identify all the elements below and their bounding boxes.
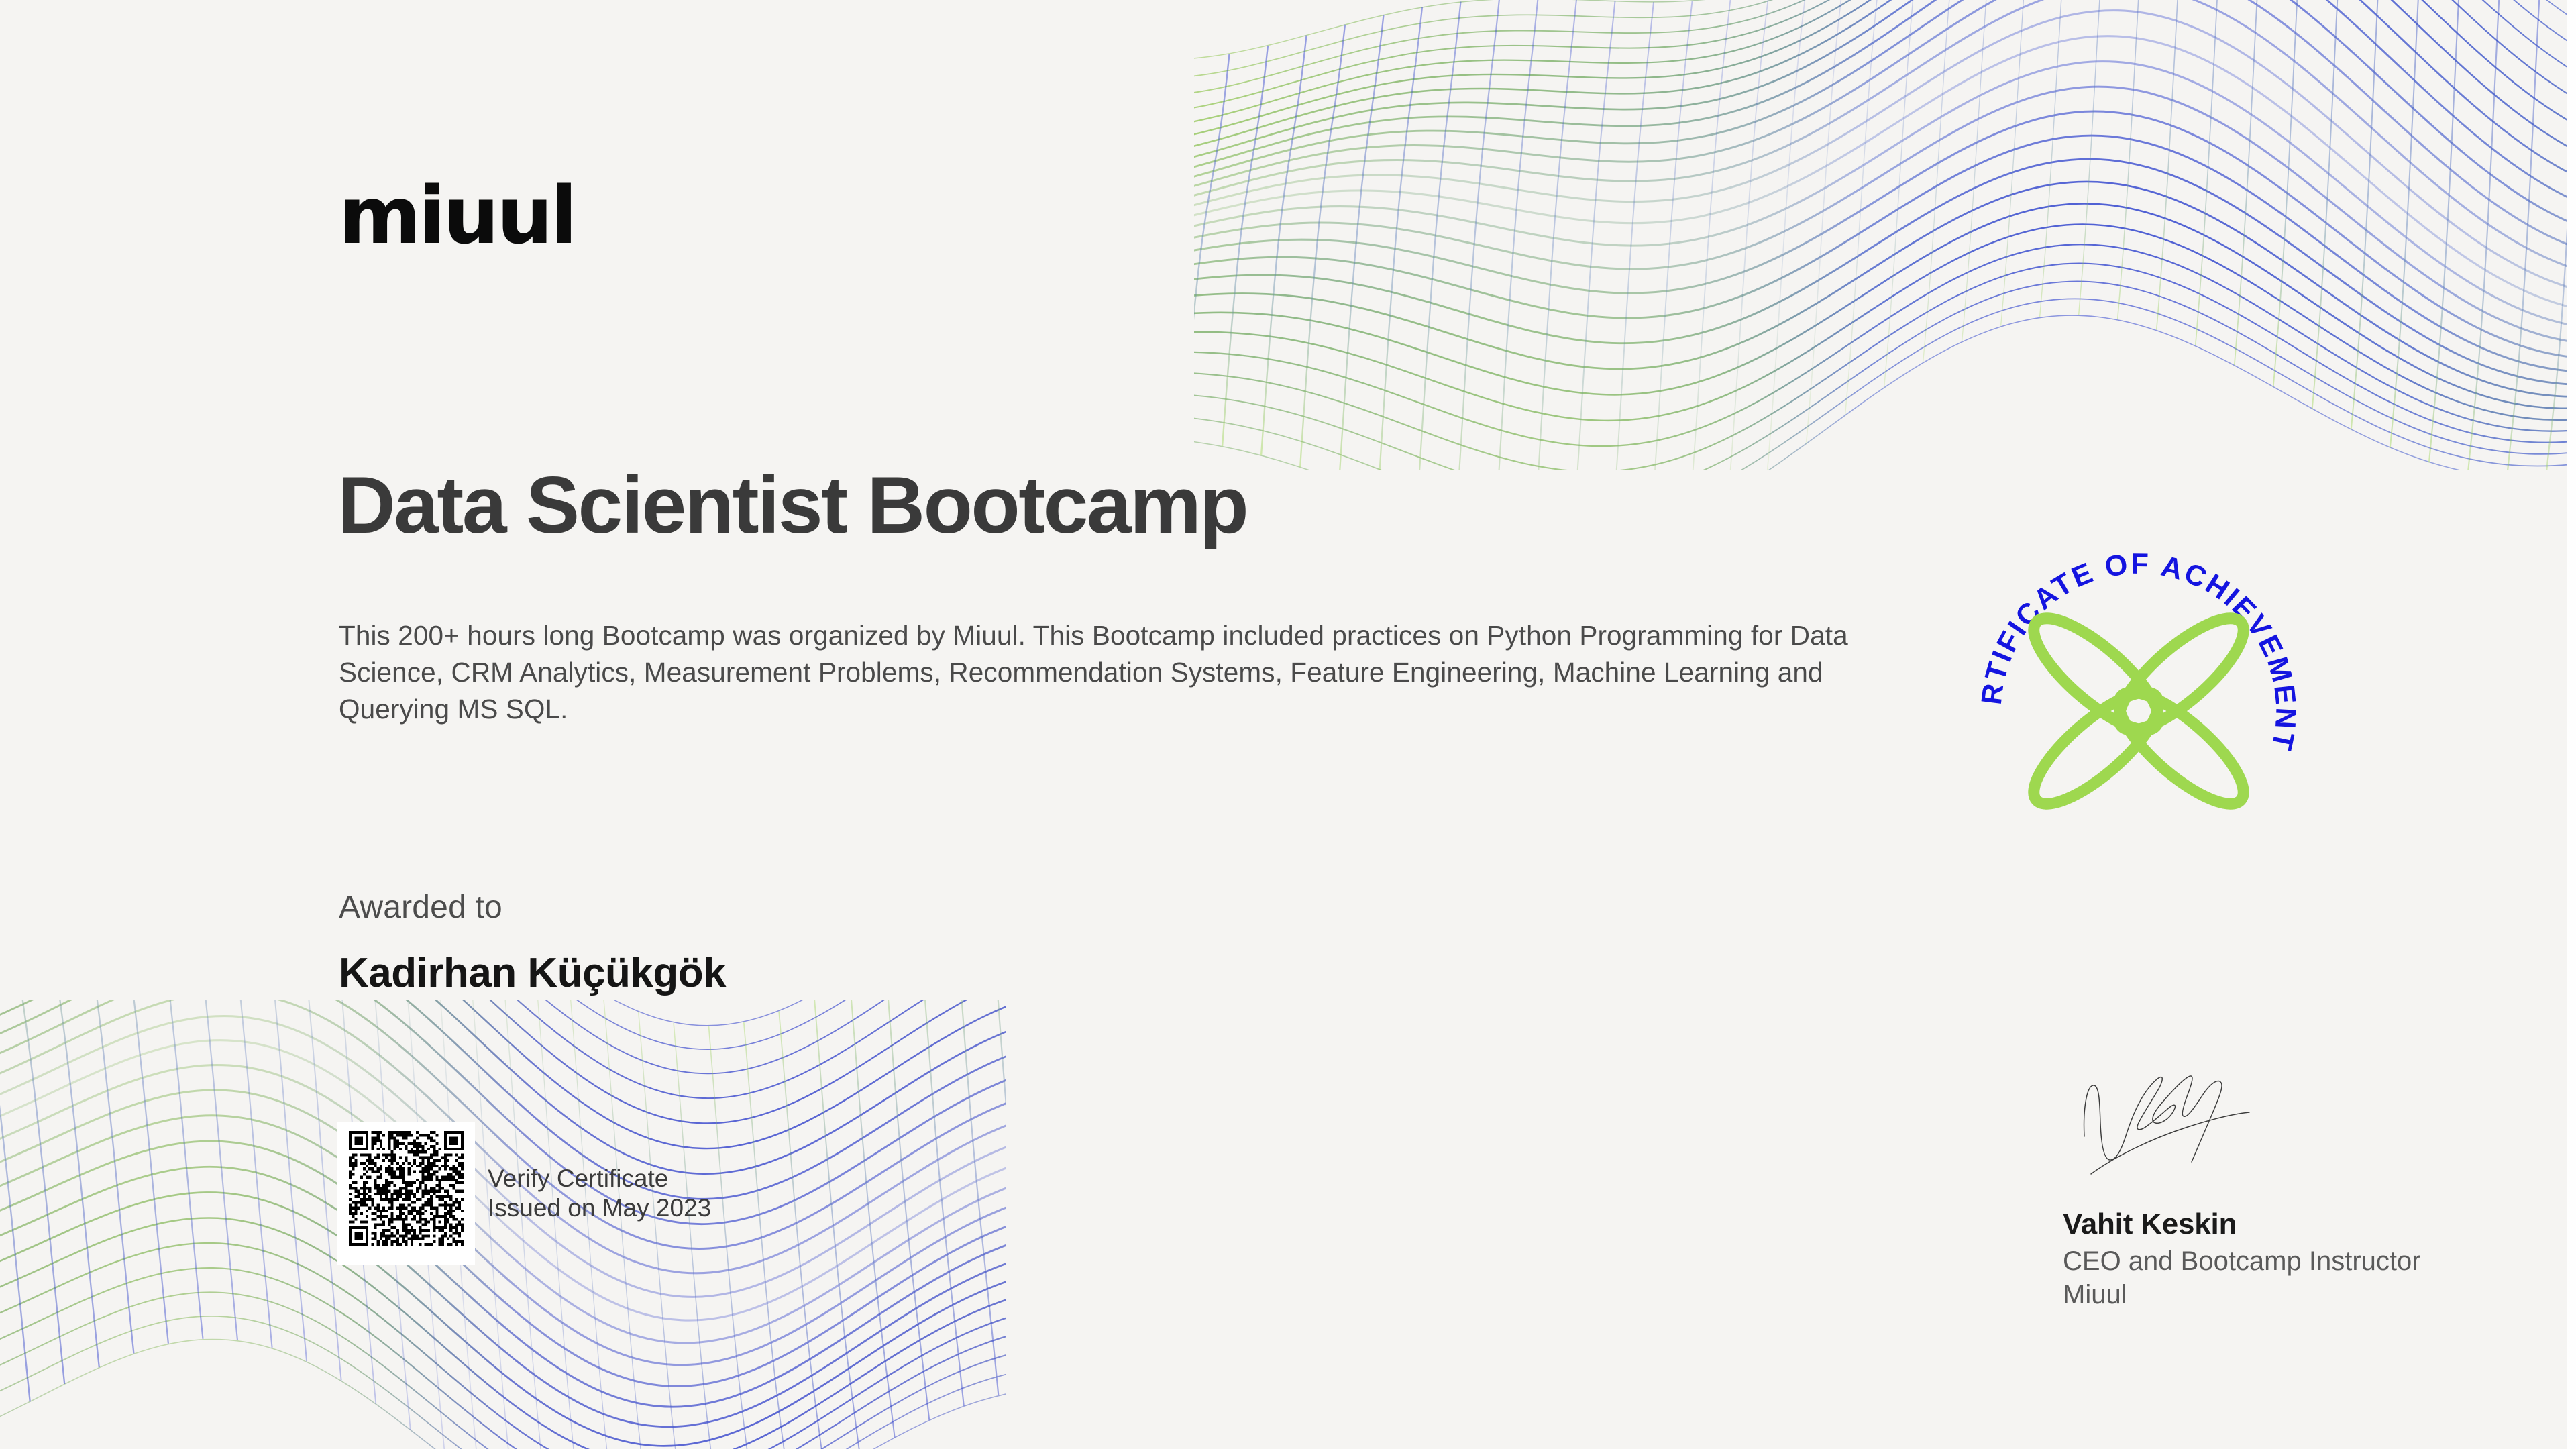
awarded-to-label: Awarded to <box>339 889 502 926</box>
verification-block[interactable]: Verify Certificate Issued on May 2023 <box>337 1122 711 1265</box>
issued-on-label: Issued on May 2023 <box>488 1193 711 1223</box>
signer-name: Vahit Keskin <box>2063 1207 2237 1241</box>
certificate-of-achievement-seal: CERTIFICATE OF ACHIEVEMENT <box>1964 537 2313 885</box>
page-right-edge <box>2567 0 2576 1449</box>
qr-code-icon[interactable] <box>346 1131 466 1246</box>
miuul-logo: miuul <box>339 176 575 255</box>
qr-code-card[interactable] <box>337 1122 475 1265</box>
verify-certificate-label: Verify Certificate <box>488 1164 711 1193</box>
certificate-description: This 200+ hours long Bootcamp was organi… <box>339 617 1888 728</box>
signer-organization: Miuul <box>2063 1278 2127 1311</box>
signer-role: CEO and Bootcamp Instructor <box>2063 1244 2421 1278</box>
handwritten-signature <box>2063 1061 2284 1179</box>
verification-text: Verify Certificate Issued on May 2023 <box>488 1122 711 1223</box>
recipient-name: Kadirhan Küçükgök <box>339 949 726 997</box>
decorative-mesh-top-right <box>1194 0 2576 470</box>
miuul-x-mark-icon <box>2019 602 2258 820</box>
certificate-page: miuul Data Scientist Bootcamp This 200+ … <box>0 0 2576 1449</box>
certificate-title: Data Scientist Bootcamp <box>337 463 1247 547</box>
